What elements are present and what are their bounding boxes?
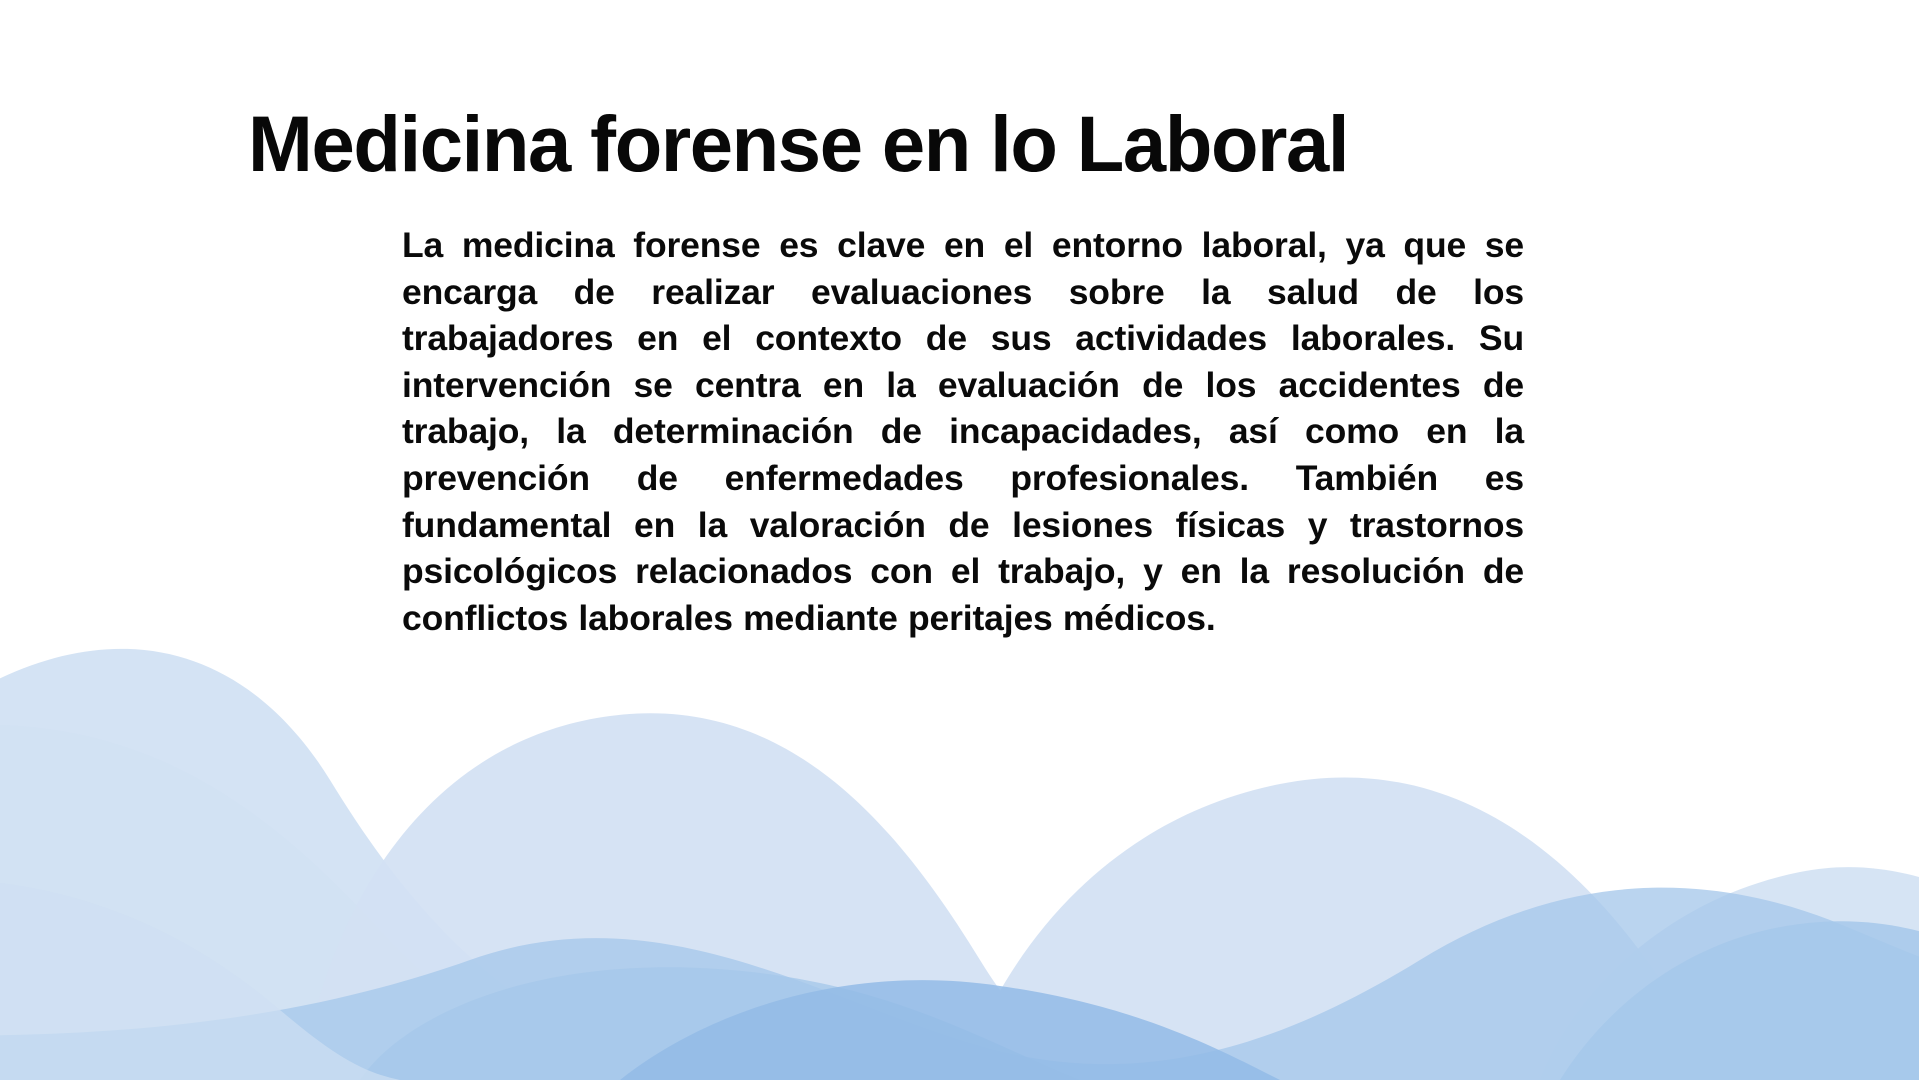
presentation-slide: Medicina forense en lo Laboral La medici… (0, 0, 1919, 1080)
slide-content: Medicina forense en lo Laboral La medici… (0, 0, 1919, 1080)
page-title: Medicina forense en lo Laboral (248, 104, 1647, 185)
body-paragraph: La medicina forense es clave en el entor… (402, 222, 1524, 641)
